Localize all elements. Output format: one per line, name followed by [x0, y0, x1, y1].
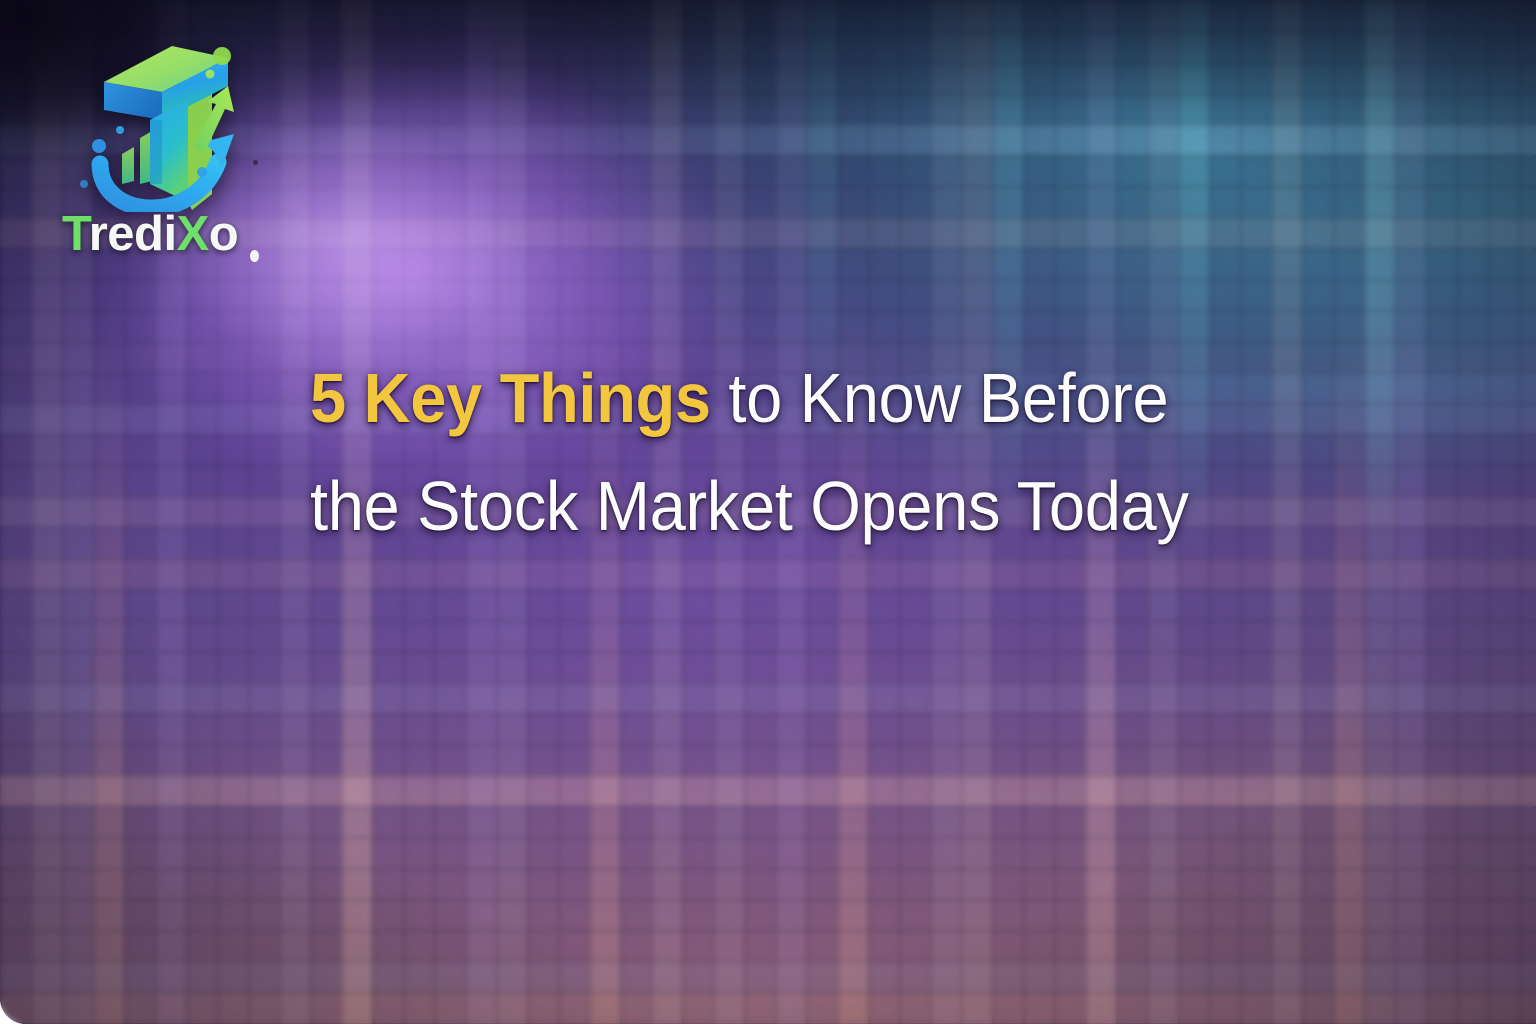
- wordmark-part-2: redi: [89, 207, 177, 261]
- tredixo-3d-t-with-growth-arrow-icon: [76, 34, 246, 212]
- wordmark-part-1: T: [62, 207, 89, 261]
- brand-wordmark: TrediXo: [62, 210, 302, 259]
- headline-line1-rest: to Know Before: [711, 359, 1169, 437]
- title-card-canvas: TrediXo 5 Key Things to Know Before the …: [0, 0, 1536, 1024]
- headline-block: 5 Key Things to Know Before the Stock Ma…: [310, 344, 1340, 560]
- wordmark-part-3: X: [177, 207, 209, 261]
- headline-line-1: 5 Key Things to Know Before: [310, 344, 1268, 452]
- brand-logo[interactable]: TrediXo: [62, 34, 302, 274]
- headline-accent-text: 5 Key Things: [310, 359, 711, 437]
- headline-line2-text: the Stock Market Opens Today: [310, 467, 1189, 545]
- wordmark-part-4: o: [209, 207, 238, 261]
- headline-line-2: the Stock Market Opens Today: [310, 452, 1268, 560]
